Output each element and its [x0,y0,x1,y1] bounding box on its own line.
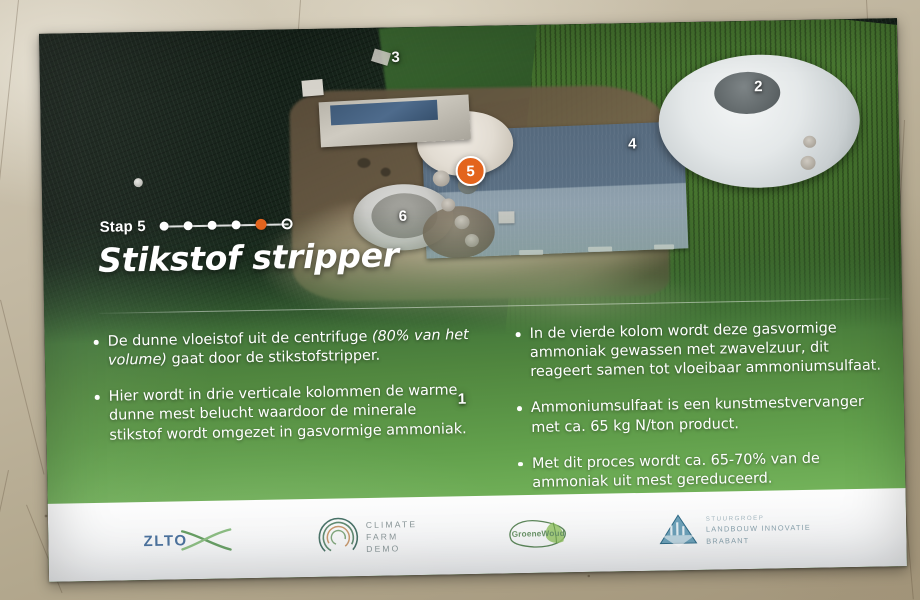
logo-lib-text: STUURGROEP LANDBOUW INNOVATIE BRABANT [706,513,812,547]
photo-process-tank [465,234,479,247]
cfd-line-1: CLIMATE [366,518,418,531]
step-dot-1[interactable] [160,222,169,231]
map-marker-6[interactable]: 6 [398,208,407,225]
page-title: Stikstof stripper [98,235,399,280]
photo-barn-vent [654,244,674,249]
right-bullet-list: In de vierde kolom wordt deze gasvormige… [514,318,895,493]
left-bullet-list: De dunne vloeistof uit de centrifuge (80… [93,326,473,446]
step-dot-2[interactable] [184,221,193,230]
logo-landbouw-innovatie-brabant: STUURGROEP LANDBOUW INNOVATIE BRABANT [658,511,812,550]
photo-equipment-crate [301,79,323,97]
photo-equipment-crate [499,211,515,223]
partner-logo-bar: ZLTO CLIMATE FARM DEMO [48,488,907,582]
lib-line-2: LANDBOUW INNOVATIE [706,523,811,534]
right-column: In de vierde kolom wordt deze gasvormige… [514,318,895,510]
wall-crack [0,470,9,597]
list-item: Ammoniumsulfaat is een kunstmestvervange… [516,393,895,438]
list-item: In de vierde kolom wordt deze gasvormige… [514,318,893,382]
logo-groene-woud: GroeneWoud [499,513,576,554]
map-marker-3[interactable]: 3 [391,48,400,65]
photo-barn-vent [588,247,612,252]
photo-ground-detail [380,167,390,176]
lib-triangle-icon [658,513,699,550]
list-item: Met dit proces wordt ca. 65-70% van de a… [517,448,896,493]
logo-climate-farm-demo: CLIMATE FARM DEMO [317,515,418,559]
photo-light-speck [134,178,143,187]
step-indicator: Stap 5 [99,215,292,236]
list-item: Hier wordt in drie verticale kolommen de… [94,381,473,445]
content-columns: De dunne vloeistof uit de centrifuge (80… [93,318,896,518]
lib-line-3: BRABANT [706,536,749,546]
step-label: Stap 5 [99,218,146,236]
photo-process-tank [454,215,469,229]
wall-crack [0,300,45,475]
step-dot-3[interactable] [208,221,217,230]
photo-barn-vent [519,249,543,254]
map-marker-4[interactable]: 4 [628,135,637,152]
cfd-line-2: FARM [366,530,418,543]
list-item: De dunne vloeistof uit de centrifuge (80… [93,326,472,371]
cfd-line-3: DEMO [366,542,418,555]
zlto-swoosh-icon [178,524,235,555]
step-dot-4[interactable] [232,220,241,229]
step-dots [160,218,293,231]
left-column: De dunne vloeistof uit de centrifuge (80… [93,326,474,518]
step-dot-6[interactable] [282,218,293,229]
logo-zlto: ZLTO [143,524,235,556]
concentric-arcs-icon [317,516,360,559]
wall-crack [0,0,19,249]
map-marker-2[interactable]: 2 [754,78,763,95]
logo-groene-woud-text: GroeneWoud [512,529,565,539]
step-dot-5-current[interactable] [256,219,267,230]
logo-climate-farm-demo-text: CLIMATE FARM DEMO [366,518,418,556]
concrete-wall-background: 1 2 3 4 5 6 Stap 5 Stikstof stripper [0,0,920,600]
information-sign-board: 1 2 3 4 5 6 Stap 5 Stikstof stripper [39,18,907,582]
